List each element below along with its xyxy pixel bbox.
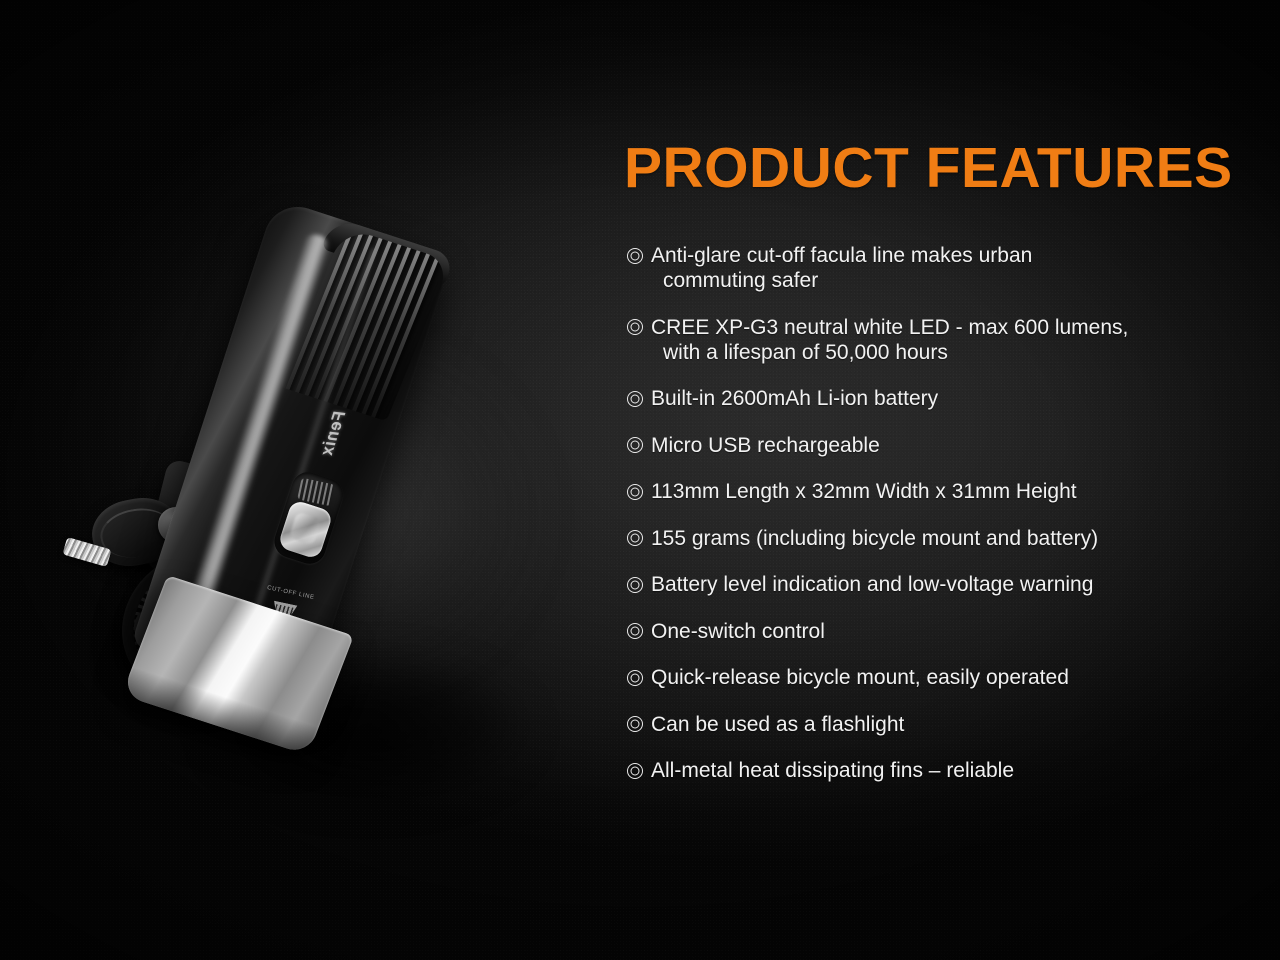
double-circle-bullet-icon [624, 433, 646, 458]
feature-text-line2: commuting safer [651, 268, 1224, 293]
feature-item: Micro USB rechargeable [624, 433, 1224, 458]
double-circle-bullet-icon [624, 619, 646, 644]
feature-item: All-metal heat dissipating fins – reliab… [624, 758, 1224, 783]
feature-text: CREE XP-G3 neutral white LED - max 600 l… [651, 315, 1224, 365]
double-circle-bullet-icon [624, 712, 646, 737]
poster-canvas: Fenix Fenix CUT-OFF LINE [0, 0, 1280, 960]
feature-text: Anti-glare cut-off facula line makes urb… [651, 243, 1224, 293]
feature-text: One-switch control [651, 619, 1224, 644]
feature-text: Built-in 2600mAh Li-ion battery [651, 386, 1224, 411]
feature-item: Quick-release bicycle mount, easily oper… [624, 665, 1224, 690]
feature-text-line1: CREE XP-G3 neutral white LED - max 600 l… [651, 316, 1128, 339]
feature-item: 113mm Length x 32mm Width x 31mm Height [624, 479, 1224, 504]
feature-text: 113mm Length x 32mm Width x 31mm Height [651, 479, 1224, 504]
feature-text-line1: Quick-release bicycle mount, easily oper… [651, 666, 1069, 689]
feature-text-line1: One-switch control [651, 620, 825, 643]
feature-text: Battery level indication and low-voltage… [651, 572, 1224, 597]
feature-text: Can be used as a flashlight [651, 712, 1224, 737]
feature-item: Can be used as a flashlight [624, 712, 1224, 737]
feature-text: Micro USB rechargeable [651, 433, 1224, 458]
feature-text-line1: 113mm Length x 32mm Width x 31mm Height [651, 480, 1077, 503]
double-circle-bullet-icon [624, 479, 646, 504]
feature-item: Built-in 2600mAh Li-ion battery [624, 386, 1224, 411]
double-circle-bullet-icon [624, 243, 646, 268]
double-circle-bullet-icon [624, 526, 646, 551]
double-circle-bullet-icon [624, 572, 646, 597]
feature-text: All-metal heat dissipating fins – reliab… [651, 758, 1224, 783]
feature-text: Quick-release bicycle mount, easily oper… [651, 665, 1224, 690]
double-circle-bullet-icon [624, 315, 646, 340]
feature-item: 155 grams (including bicycle mount and b… [624, 526, 1224, 551]
feature-item: Anti-glare cut-off facula line makes urb… [624, 243, 1224, 293]
double-circle-bullet-icon [624, 758, 646, 783]
double-circle-bullet-icon [624, 386, 646, 411]
feature-item: Battery level indication and low-voltage… [624, 572, 1224, 597]
feature-text-line1: All-metal heat dissipating fins – reliab… [651, 759, 1014, 782]
feature-item: CREE XP-G3 neutral white LED - max 600 l… [624, 315, 1224, 365]
page-title: PRODUCT FEATURES [624, 140, 1233, 197]
feature-text-line1: Micro USB rechargeable [651, 434, 880, 457]
feature-text-line1: Built-in 2600mAh Li-ion battery [651, 387, 938, 410]
feature-item: One-switch control [624, 619, 1224, 644]
double-circle-bullet-icon [624, 665, 646, 690]
feature-list: Anti-glare cut-off facula line makes urb… [624, 243, 1224, 805]
feature-text-line1: 155 grams (including bicycle mount and b… [651, 527, 1098, 550]
feature-text-line1: Can be used as a flashlight [651, 713, 904, 736]
feature-text-line2: with a lifespan of 50,000 hours [651, 340, 1224, 365]
feature-text-line1: Battery level indication and low-voltage… [651, 573, 1093, 596]
text-column: PRODUCT FEATURES Anti-glare cut-off facu… [0, 0, 1280, 960]
feature-text: 155 grams (including bicycle mount and b… [651, 526, 1224, 551]
feature-text-line1: Anti-glare cut-off facula line makes urb… [651, 244, 1032, 267]
